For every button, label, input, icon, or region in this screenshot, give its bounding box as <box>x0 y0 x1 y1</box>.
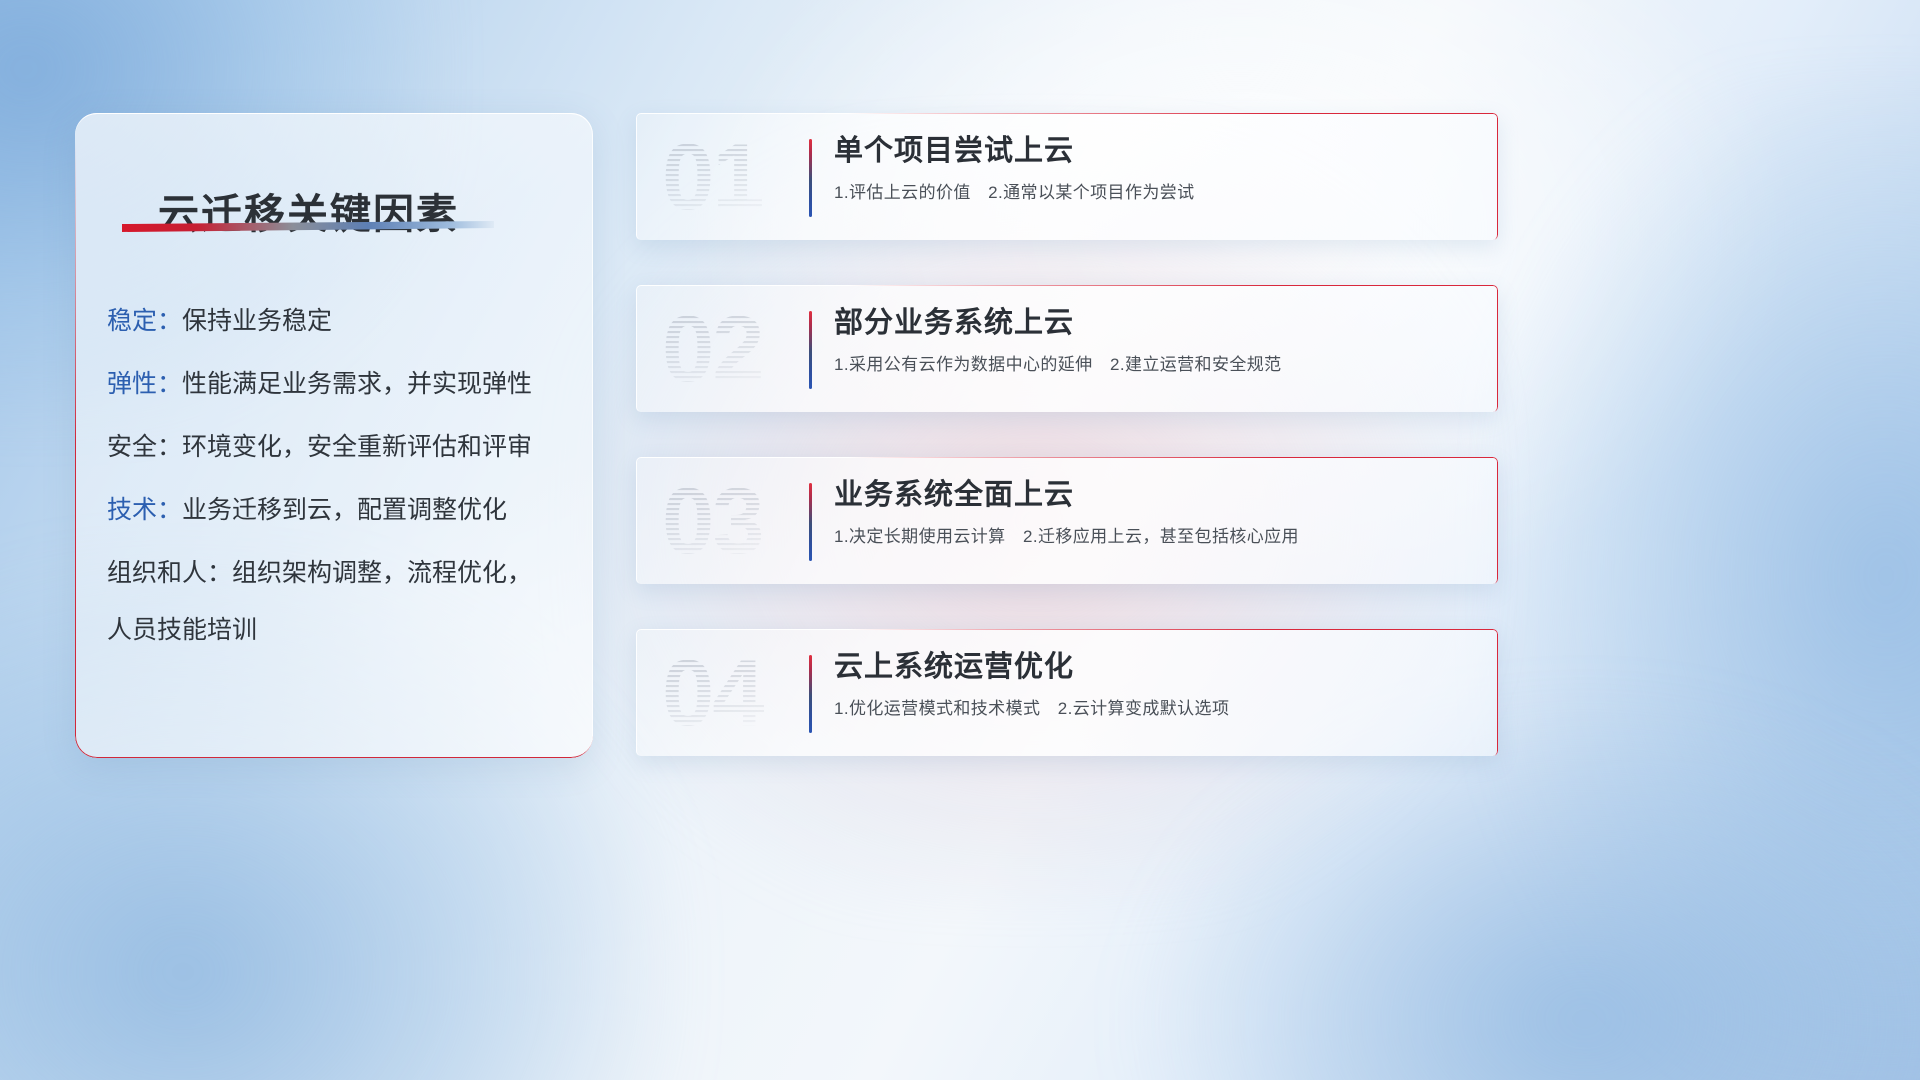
svg-text:03: 03 <box>662 473 763 569</box>
card-body: 单个项目尝试上云 1.评估上云的价值 2.通常以某个项目作为尝试 <box>834 133 1478 204</box>
stage-card[interactable]: 01 单个项目尝试上云 1.评估上云的价值 2.通常以某个项目作为尝试 <box>636 113 1498 240</box>
stage-card[interactable]: 02 部分业务系统上云 1.采用公有云作为数据中心的延伸 2.建立运营和安全规范 <box>636 285 1498 412</box>
factor-label: 组织和人： <box>107 561 232 586</box>
stage-card[interactable]: 03 业务系统全面上云 1.决定长期使用云计算 2.迁移应用上云，甚至包括核心应… <box>636 457 1498 584</box>
card-title: 部分业务系统上云 <box>834 305 1478 341</box>
card-accent-divider <box>809 655 812 733</box>
card-subtitle: 1.决定长期使用云计算 2.迁移应用上云，甚至包括核心应用 <box>834 526 1478 548</box>
factor-text: 保持业务稳定 <box>182 309 332 334</box>
card-subtitle: 1.采用公有云作为数据中心的延伸 2.建立运营和安全规范 <box>834 354 1478 376</box>
stage-number-03: 03 <box>662 473 814 569</box>
card-accent-divider <box>809 311 812 389</box>
stage-card[interactable]: 04 云上系统运营优化 1.优化运营模式和技术模式 2.云计算变成默认选项 <box>636 629 1498 756</box>
card-subtitle: 1.优化运营模式和技术模式 2.云计算变成默认选项 <box>834 698 1478 720</box>
slide-stage: 云迁移关键因素 稳定： 保持业务稳定 <box>0 0 1920 1080</box>
factor-label: 安全： <box>107 435 182 460</box>
stage-number-01: 01 <box>662 129 814 225</box>
list-item: 技术： 业务迁移到云，配置调整优化 <box>107 498 575 523</box>
card-body: 业务系统全面上云 1.决定长期使用云计算 2.迁移应用上云，甚至包括核心应用 <box>834 477 1478 548</box>
card-body: 部分业务系统上云 1.采用公有云作为数据中心的延伸 2.建立运营和安全规范 <box>834 305 1478 376</box>
card-subtitle: 1.评估上云的价值 2.通常以某个项目作为尝试 <box>834 182 1478 204</box>
factor-text: 性能满足业务需求，并实现弹性 <box>182 372 532 397</box>
card-title: 业务系统全面上云 <box>834 477 1478 513</box>
list-item: 弹性： 性能满足业务需求，并实现弹性 <box>107 372 575 397</box>
stage-number-04: 04 <box>662 645 814 741</box>
key-factors-panel: 云迁移关键因素 稳定： 保持业务稳定 <box>75 113 593 758</box>
svg-text:02: 02 <box>662 301 763 397</box>
factor-label: 弹性： <box>107 372 182 397</box>
factor-text: 环境变化，安全重新评估和评审 <box>182 435 532 460</box>
svg-text:04: 04 <box>662 645 764 741</box>
card-title: 云上系统运营优化 <box>834 649 1478 685</box>
factor-list: 稳定： 保持业务稳定 弹性： 性能满足业务需求，并实现弹性 安全： 环境变化，安… <box>107 309 575 643</box>
factor-text-continuation: 人员技能培训 <box>107 618 575 643</box>
stage-number-02: 02 <box>662 301 814 397</box>
svg-text:01: 01 <box>662 129 763 225</box>
title-underline-rule <box>122 221 494 232</box>
card-body: 云上系统运营优化 1.优化运营模式和技术模式 2.云计算变成默认选项 <box>834 649 1478 720</box>
factor-text: 业务迁移到云，配置调整优化 <box>182 498 507 523</box>
stage-card-list: 01 单个项目尝试上云 1.评估上云的价值 2.通常以某个项目作为尝试 <box>636 113 1498 756</box>
factor-label: 技术： <box>107 498 182 523</box>
list-item: 稳定： 保持业务稳定 <box>107 309 575 334</box>
card-title: 单个项目尝试上云 <box>834 133 1478 169</box>
factor-text: 组织架构调整，流程优化， <box>232 561 532 586</box>
card-accent-divider <box>809 483 812 561</box>
card-accent-divider <box>809 139 812 217</box>
factor-label: 稳定： <box>107 309 182 334</box>
list-item: 安全： 环境变化，安全重新评估和评审 <box>107 435 575 460</box>
list-item: 组织和人： 组织架构调整，流程优化， <box>107 561 575 586</box>
